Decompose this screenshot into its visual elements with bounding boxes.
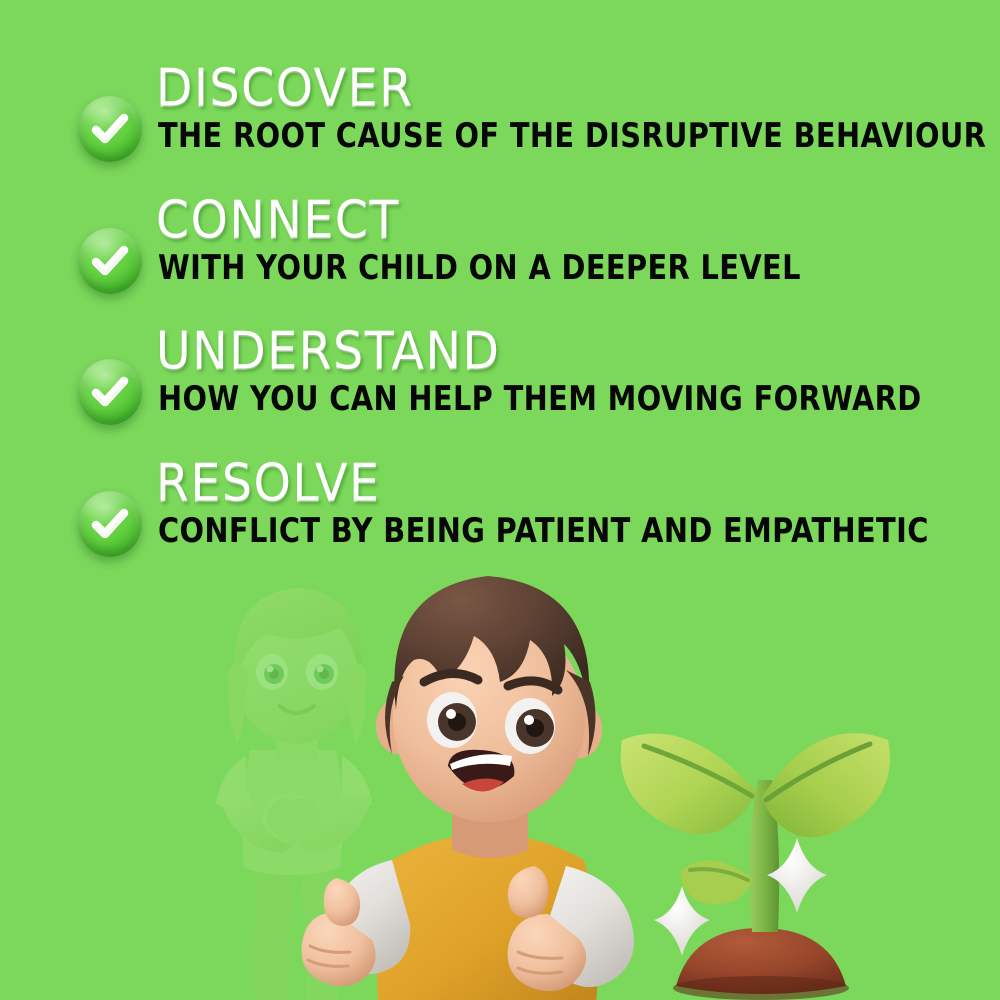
checklist-subtitle: Conflict by being patient and empathetic xyxy=(158,515,929,548)
checklist-item-understand[interactable]: UNDERSTAND How you can help them moving … xyxy=(70,327,1000,457)
green-check-badge-icon xyxy=(78,491,142,557)
green-check-badge-icon xyxy=(78,359,142,425)
checklist-heading: DISCOVER xyxy=(156,62,414,114)
seedling-illustration xyxy=(621,733,890,1000)
poster-canvas: DISCOVER The root cause of the disruptiv… xyxy=(0,0,1000,1000)
checklist-item-resolve[interactable]: RESOLVE Conflict by being patient and em… xyxy=(70,459,1000,589)
checklist-heading: CONNECT xyxy=(156,194,400,246)
checklist-heading: RESOLVE xyxy=(156,457,381,509)
green-check-badge-icon xyxy=(78,96,142,162)
illustration-group xyxy=(0,560,1000,1000)
checklist-item-discover[interactable]: DISCOVER The root cause of the disruptiv… xyxy=(70,64,1000,194)
checklist-heading: UNDERSTAND xyxy=(156,325,501,377)
checklist-subtitle: With your child on a deeper level xyxy=(158,252,801,285)
checklist-subtitle: The root cause of the disruptive behavio… xyxy=(158,120,986,153)
checklist-subtitle: How you can help them moving forward xyxy=(158,383,922,416)
checklist-item-connect[interactable]: CONNECT With your child on a deeper leve… xyxy=(70,196,1000,326)
green-check-badge-icon xyxy=(78,228,142,294)
